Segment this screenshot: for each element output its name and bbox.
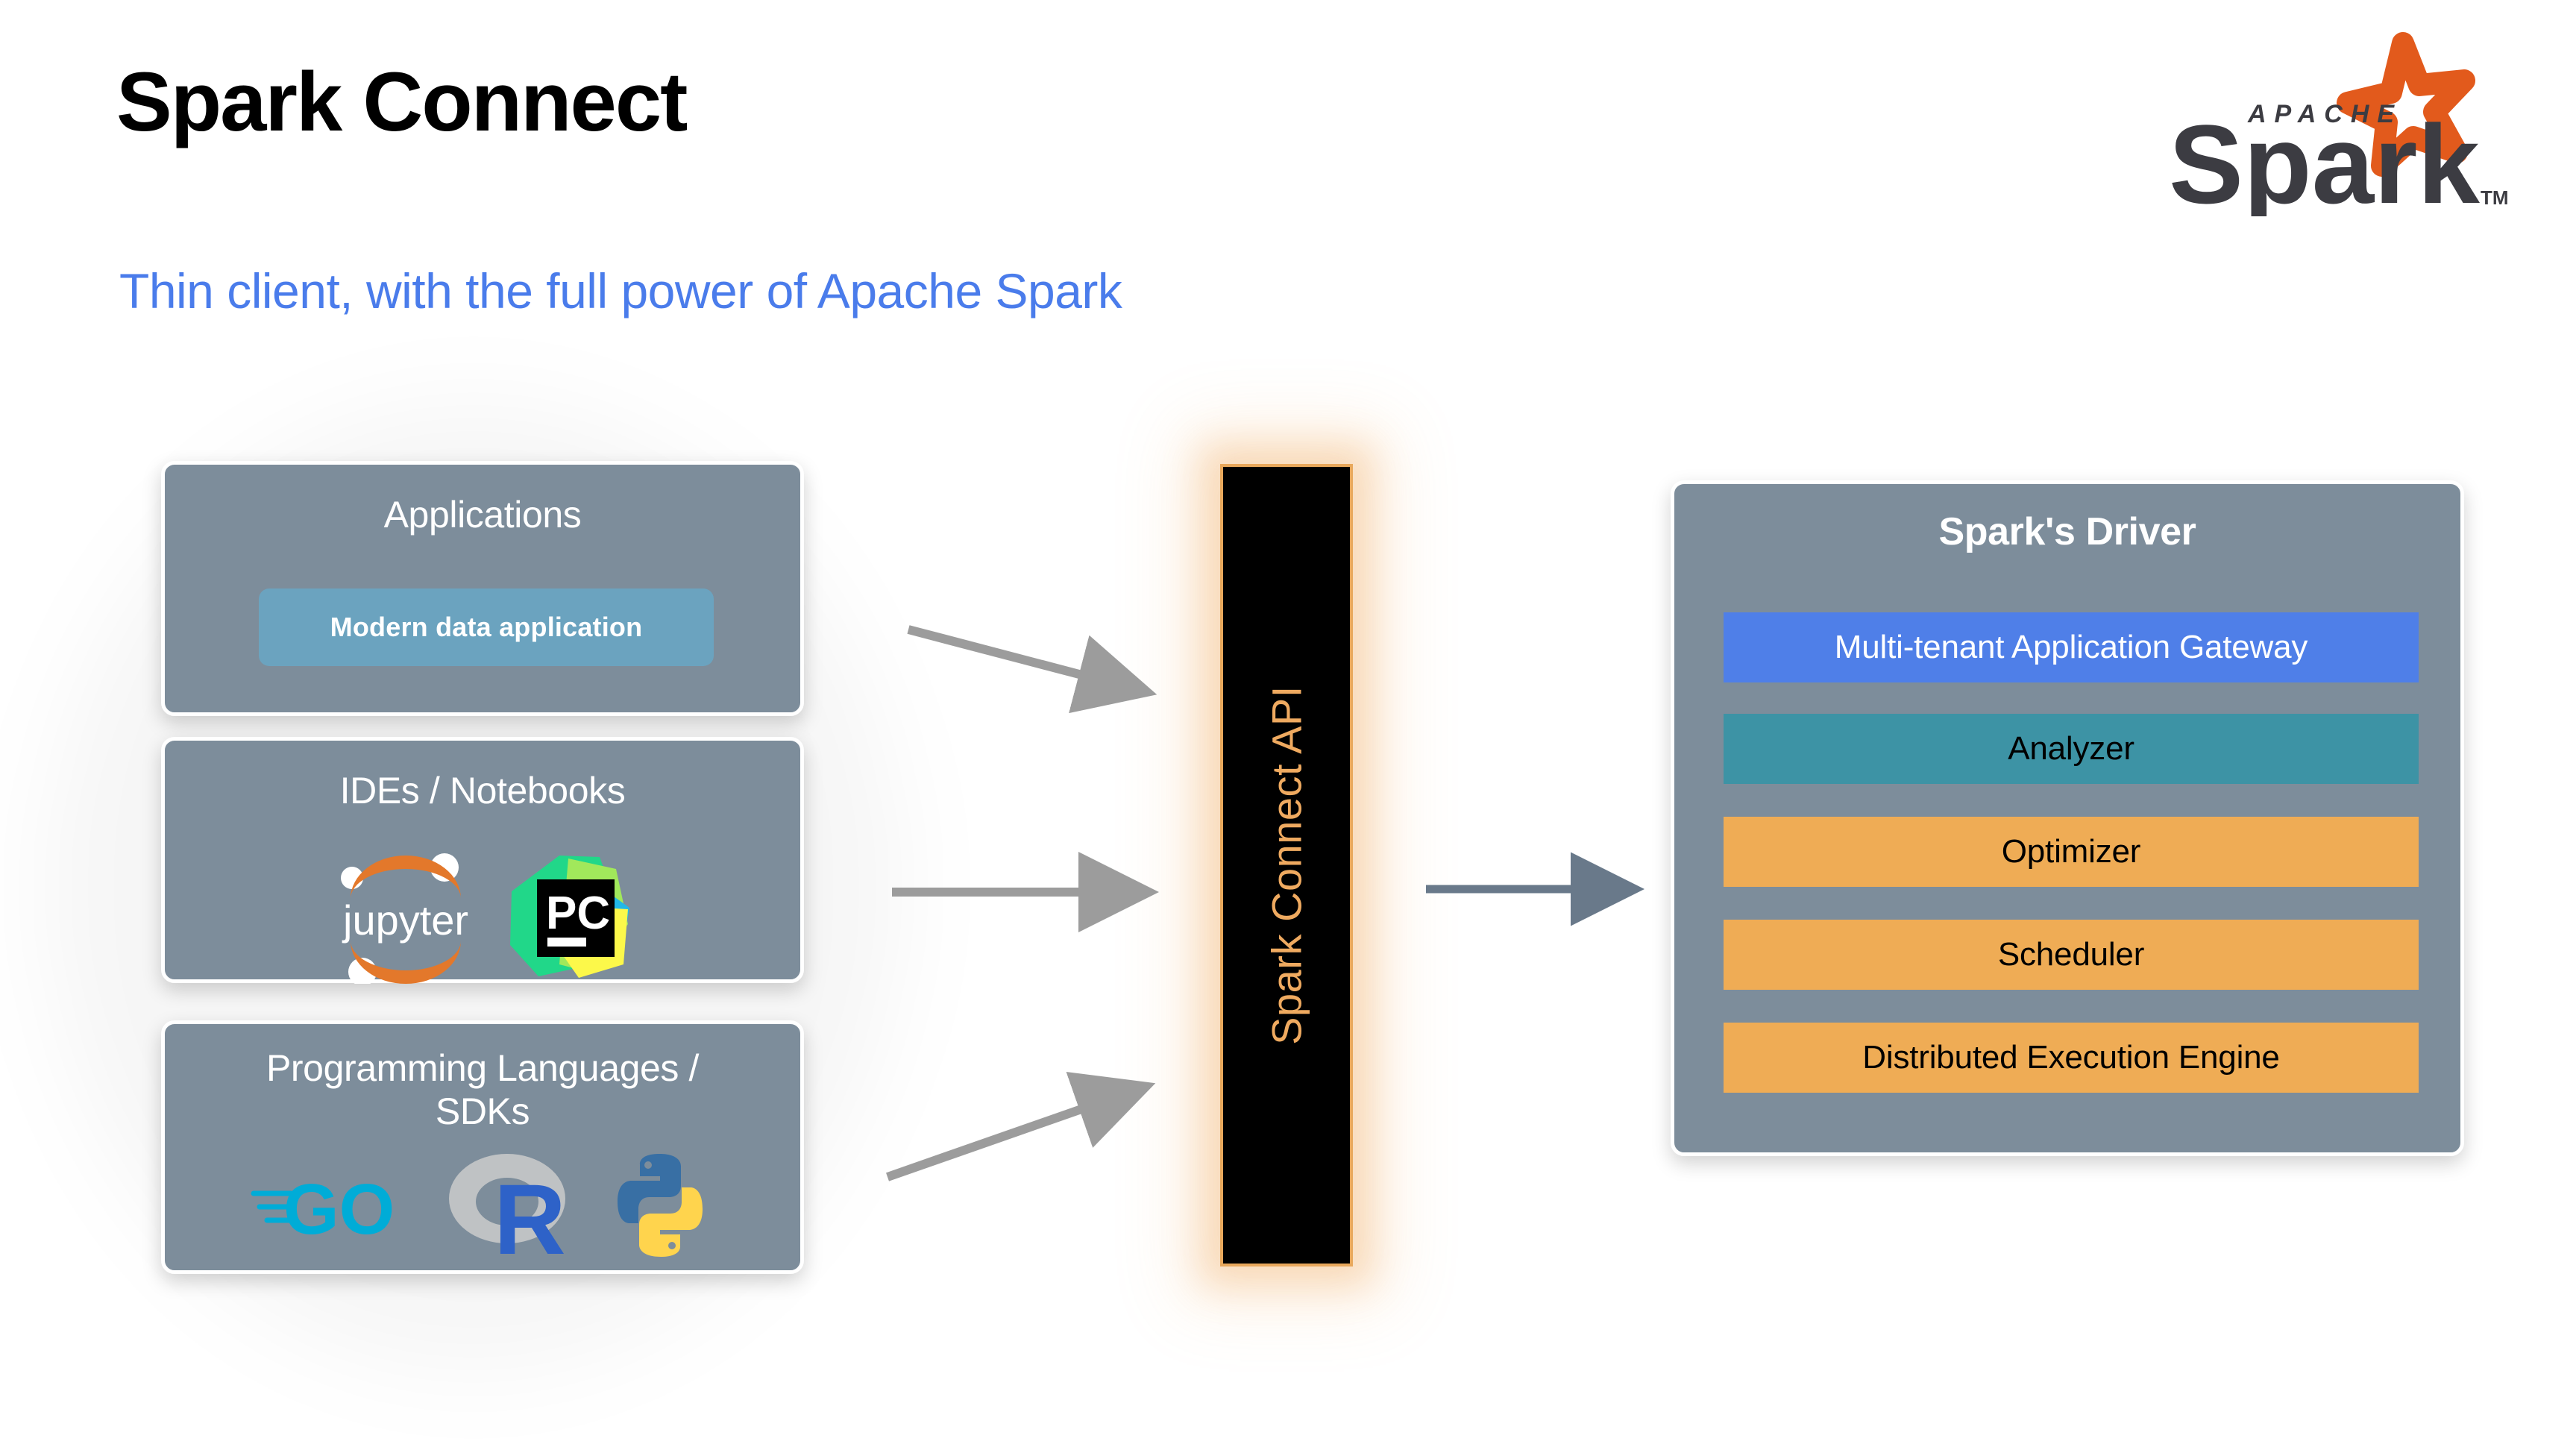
sdk-logo-row: GO R [165, 1149, 800, 1261]
spark-driver-panel[interactable]: Spark's Driver Multi-tenant Application … [1671, 480, 2464, 1156]
arrow-sdks-to-api [888, 1104, 1096, 1177]
pycharm-logo: PC [504, 853, 632, 984]
r-logo: R [442, 1149, 576, 1261]
go-logo: GO [249, 1161, 413, 1250]
applications-panel[interactable]: Applications Modern data application [161, 461, 804, 716]
jupyter-wordmark: jupyter [342, 897, 468, 944]
pycharm-wordmark: PC [546, 888, 610, 939]
driver-row-analyzer[interactable]: Analyzer [1724, 714, 2419, 784]
ide-logo-row: jupyter PC [165, 853, 800, 984]
modern-data-application-label: Modern data application [330, 612, 643, 643]
sdks-title-line2: SDKs [165, 1090, 800, 1133]
ides-notebooks-title: IDEs / Notebooks [165, 769, 800, 812]
python-yellow-coil [639, 1187, 703, 1257]
modern-data-application-chip[interactable]: Modern data application [259, 588, 714, 666]
page-subtitle: Thin client, with the full power of Apac… [119, 263, 1122, 319]
python-logo [604, 1149, 716, 1261]
driver-row-distributed-execution-engine[interactable]: Distributed Execution Engine [1724, 1023, 2419, 1093]
driver-row-label: Distributed Execution Engine [1862, 1039, 2279, 1076]
driver-row-label: Multi-tenant Application Gateway [1835, 629, 2308, 666]
driver-row-scheduler[interactable]: Scheduler [1724, 920, 2419, 990]
spark-driver-title: Spark's Driver [1674, 509, 2460, 554]
driver-row-label: Analyzer [2008, 730, 2134, 768]
page-title: Spark Connect [116, 58, 686, 146]
ides-notebooks-panel[interactable]: IDEs / Notebooks jupyter PC [161, 737, 804, 983]
spark-connect-api-bar[interactable]: Spark Connect API [1220, 464, 1353, 1266]
arrow-applications-to-api [908, 630, 1096, 679]
jupyter-logo: jupyter [333, 853, 474, 984]
driver-row-optimizer[interactable]: Optimizer [1724, 817, 2419, 887]
driver-row-label: Scheduler [1998, 936, 2144, 973]
sdks-panel[interactable]: Programming Languages / SDKs GO R [161, 1020, 804, 1274]
sdks-title-line1: Programming Languages / [165, 1046, 800, 1090]
sdks-title: Programming Languages / SDKs [165, 1046, 800, 1133]
pycharm-underscore [547, 938, 586, 947]
driver-row-label: Optimizer [2002, 833, 2140, 870]
applications-title: Applications [165, 493, 800, 536]
go-wordmark: GO [283, 1170, 395, 1249]
apache-spark-logo: APACHE Spark TM [2157, 16, 2530, 216]
r-wordmark: R [494, 1164, 566, 1261]
spark-connect-api-label: Spark Connect API [1263, 685, 1311, 1045]
driver-row-multi-tenant-application-gateway[interactable]: Multi-tenant Application Gateway [1724, 612, 2419, 682]
spark-wordmark: Spark [2169, 101, 2480, 216]
python-blue-coil [618, 1154, 681, 1223]
trademark-mark: TM [2481, 186, 2509, 209]
